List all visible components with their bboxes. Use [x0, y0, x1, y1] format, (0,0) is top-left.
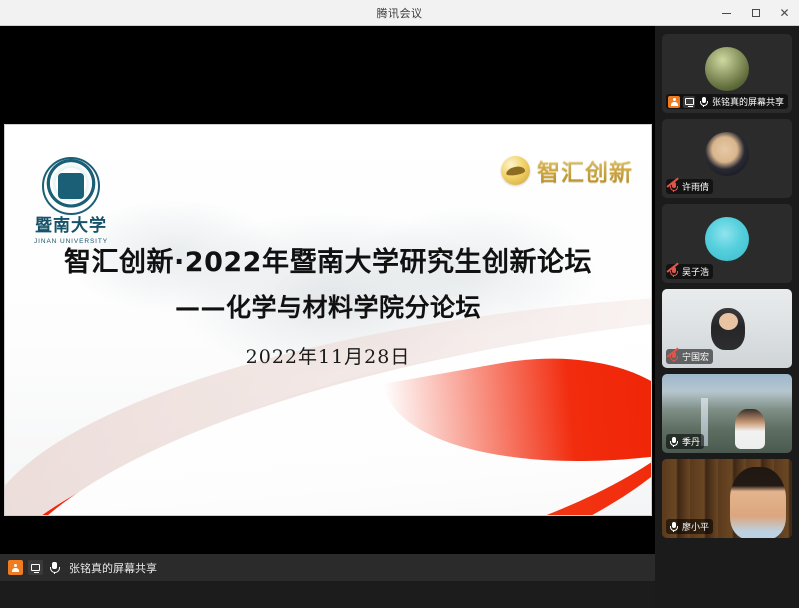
microphone-icon: [698, 96, 709, 108]
participant-avatar: [705, 132, 749, 176]
university-name-cn: 暨南大学: [23, 218, 119, 236]
slide-date: 2022年11月28日: [5, 342, 651, 369]
participant-name: 吴子浩: [682, 265, 709, 278]
participant-tile[interactable]: 宁国宏: [662, 289, 792, 368]
participant-rail[interactable]: 张铭真的屏幕共享 许雨倩 吴子浩 宁国宏: [655, 26, 799, 608]
participant-label: 季丹: [666, 434, 704, 449]
brand-emblem-icon: [501, 156, 530, 185]
participant-tile[interactable]: 张铭真的屏幕共享: [662, 34, 792, 113]
brand-logo-text: 智汇创新: [537, 153, 633, 187]
participant-label: 廖小平: [666, 519, 713, 534]
microphone-icon: [668, 436, 679, 448]
slide-title: 智汇创新·2022年暨南大学研究生创新论坛: [5, 240, 651, 279]
participant-avatar: [705, 217, 749, 261]
microphone-muted-icon: [668, 266, 679, 278]
microphone-muted-icon: [668, 351, 679, 363]
forum-brand-logo: 智汇创新: [501, 153, 633, 187]
window-title: 腾讯会议: [377, 5, 423, 21]
microphone-muted-icon: [668, 181, 679, 193]
university-logo: 暨南大学 JINAN UNIVERSITY: [23, 157, 119, 245]
participant-name: 张铭真的屏幕共享: [712, 95, 784, 108]
participant-name: 宁国宏: [682, 350, 709, 363]
maximize-icon: [752, 9, 760, 17]
tencent-meeting-window: 腾讯会议 ✕ 暨南大学 JINAN UNIVERSITY 智汇: [0, 0, 799, 608]
host-icon: [668, 96, 680, 108]
participant-label: 许雨倩: [666, 179, 713, 194]
microphone-icon: [48, 561, 61, 575]
screen-share-icon: [683, 96, 695, 108]
slide-subtitle: ——化学与材料学院分论坛: [5, 288, 651, 324]
participant-label: 张铭真的屏幕共享: [666, 94, 788, 109]
shared-screen-stage[interactable]: 暨南大学 JINAN UNIVERSITY 智汇创新 智汇创新·2022年暨南大…: [0, 26, 655, 581]
microphone-icon: [668, 521, 679, 533]
close-button[interactable]: ✕: [770, 0, 799, 26]
minimize-button[interactable]: [712, 0, 741, 26]
participant-avatar: [705, 47, 749, 91]
university-seal-icon: [42, 157, 100, 215]
close-icon: ✕: [779, 7, 789, 19]
presentation-slide: 暨南大学 JINAN UNIVERSITY 智汇创新 智汇创新·2022年暨南大…: [4, 124, 652, 516]
participant-tile[interactable]: 吴子浩: [662, 204, 792, 283]
minimize-icon: [722, 13, 731, 14]
title-bar: 腾讯会议 ✕: [0, 0, 799, 26]
participant-label: 宁国宏: [666, 349, 713, 364]
participant-name: 许雨倩: [682, 180, 709, 193]
screen-share-icon: [28, 560, 43, 575]
participant-tile[interactable]: 许雨倩: [662, 119, 792, 198]
window-controls: ✕: [712, 0, 799, 26]
presenter-status-bar: 张铭真的屏幕共享: [0, 554, 655, 581]
participant-name: 季丹: [682, 435, 700, 448]
presenter-name: 张铭真的屏幕共享: [69, 560, 157, 576]
participant-tile-active-speaker[interactable]: 廖小平: [662, 459, 792, 538]
participant-label: 吴子浩: [666, 264, 713, 279]
participant-tile[interactable]: 季丹: [662, 374, 792, 453]
maximize-button[interactable]: [741, 0, 770, 26]
host-icon: [8, 560, 23, 575]
participant-name: 廖小平: [682, 520, 709, 533]
